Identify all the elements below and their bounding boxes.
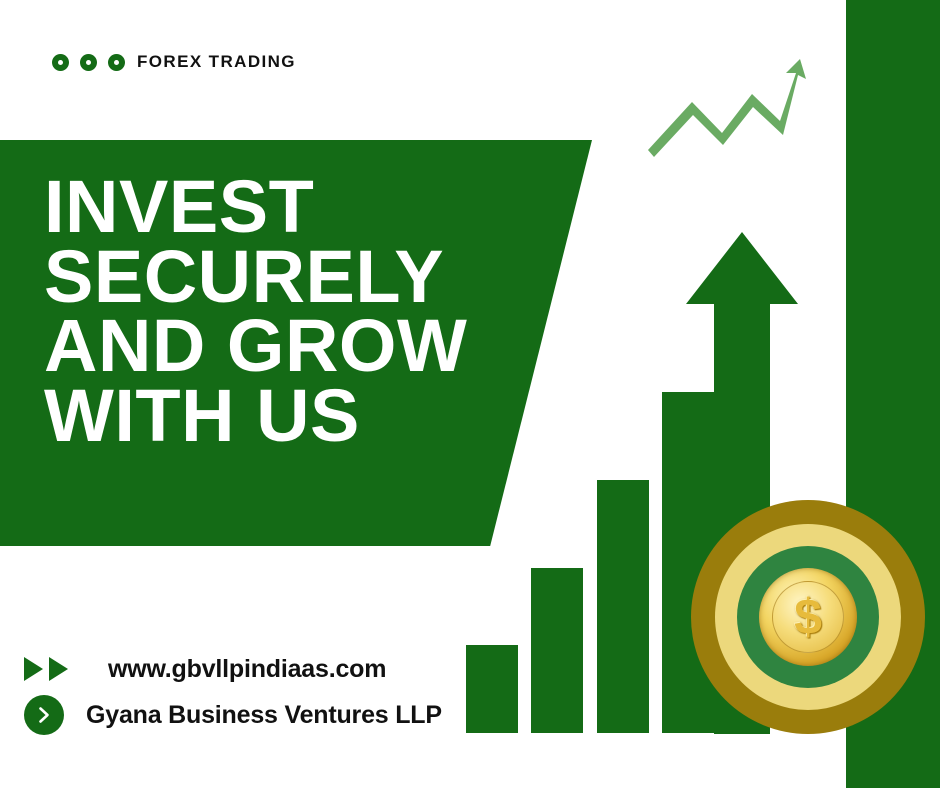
- ring-dot-icon-2: [80, 54, 97, 71]
- poster-canvas: FOREX TRADING INVEST SECURELY AND GROW W…: [0, 0, 940, 788]
- double-play-triangle-icon: [22, 657, 86, 681]
- page-title: INVEST SECURELY AND GROW WITH US: [44, 172, 514, 450]
- coin-face: $: [759, 568, 857, 666]
- play-triangle-icon-2: [49, 657, 68, 681]
- gold-coin-medal: $: [691, 500, 925, 734]
- ring-dot-icon-3: [108, 54, 125, 71]
- chevron-right-circle-icon: [24, 695, 64, 735]
- brand-label: FOREX TRADING: [137, 52, 296, 72]
- website-url[interactable]: www.gbvllpindiaas.com: [108, 655, 386, 684]
- chevron-right-icon: [34, 705, 54, 725]
- footer: www.gbvllpindiaas.com Gyana Business Ven…: [22, 646, 542, 738]
- coin-ring-light-gold: $: [715, 524, 901, 710]
- ring-dot-icon-1: [52, 54, 69, 71]
- coin-inner-disc: $: [772, 581, 844, 653]
- bar-3: [597, 480, 649, 733]
- play-triangle-icon-1: [24, 657, 43, 681]
- brand-row: FOREX TRADING: [52, 48, 296, 76]
- website-row[interactable]: www.gbvllpindiaas.com: [22, 646, 542, 692]
- coin-ring-green: $: [737, 546, 879, 688]
- brand-dots-group: [52, 54, 125, 71]
- company-name: Gyana Business Ventures LLP: [86, 701, 442, 730]
- trend-zigzag-arrow-icon: [640, 45, 810, 160]
- company-row: Gyana Business Ventures LLP: [22, 692, 542, 738]
- dollar-sign-icon: $: [794, 592, 822, 642]
